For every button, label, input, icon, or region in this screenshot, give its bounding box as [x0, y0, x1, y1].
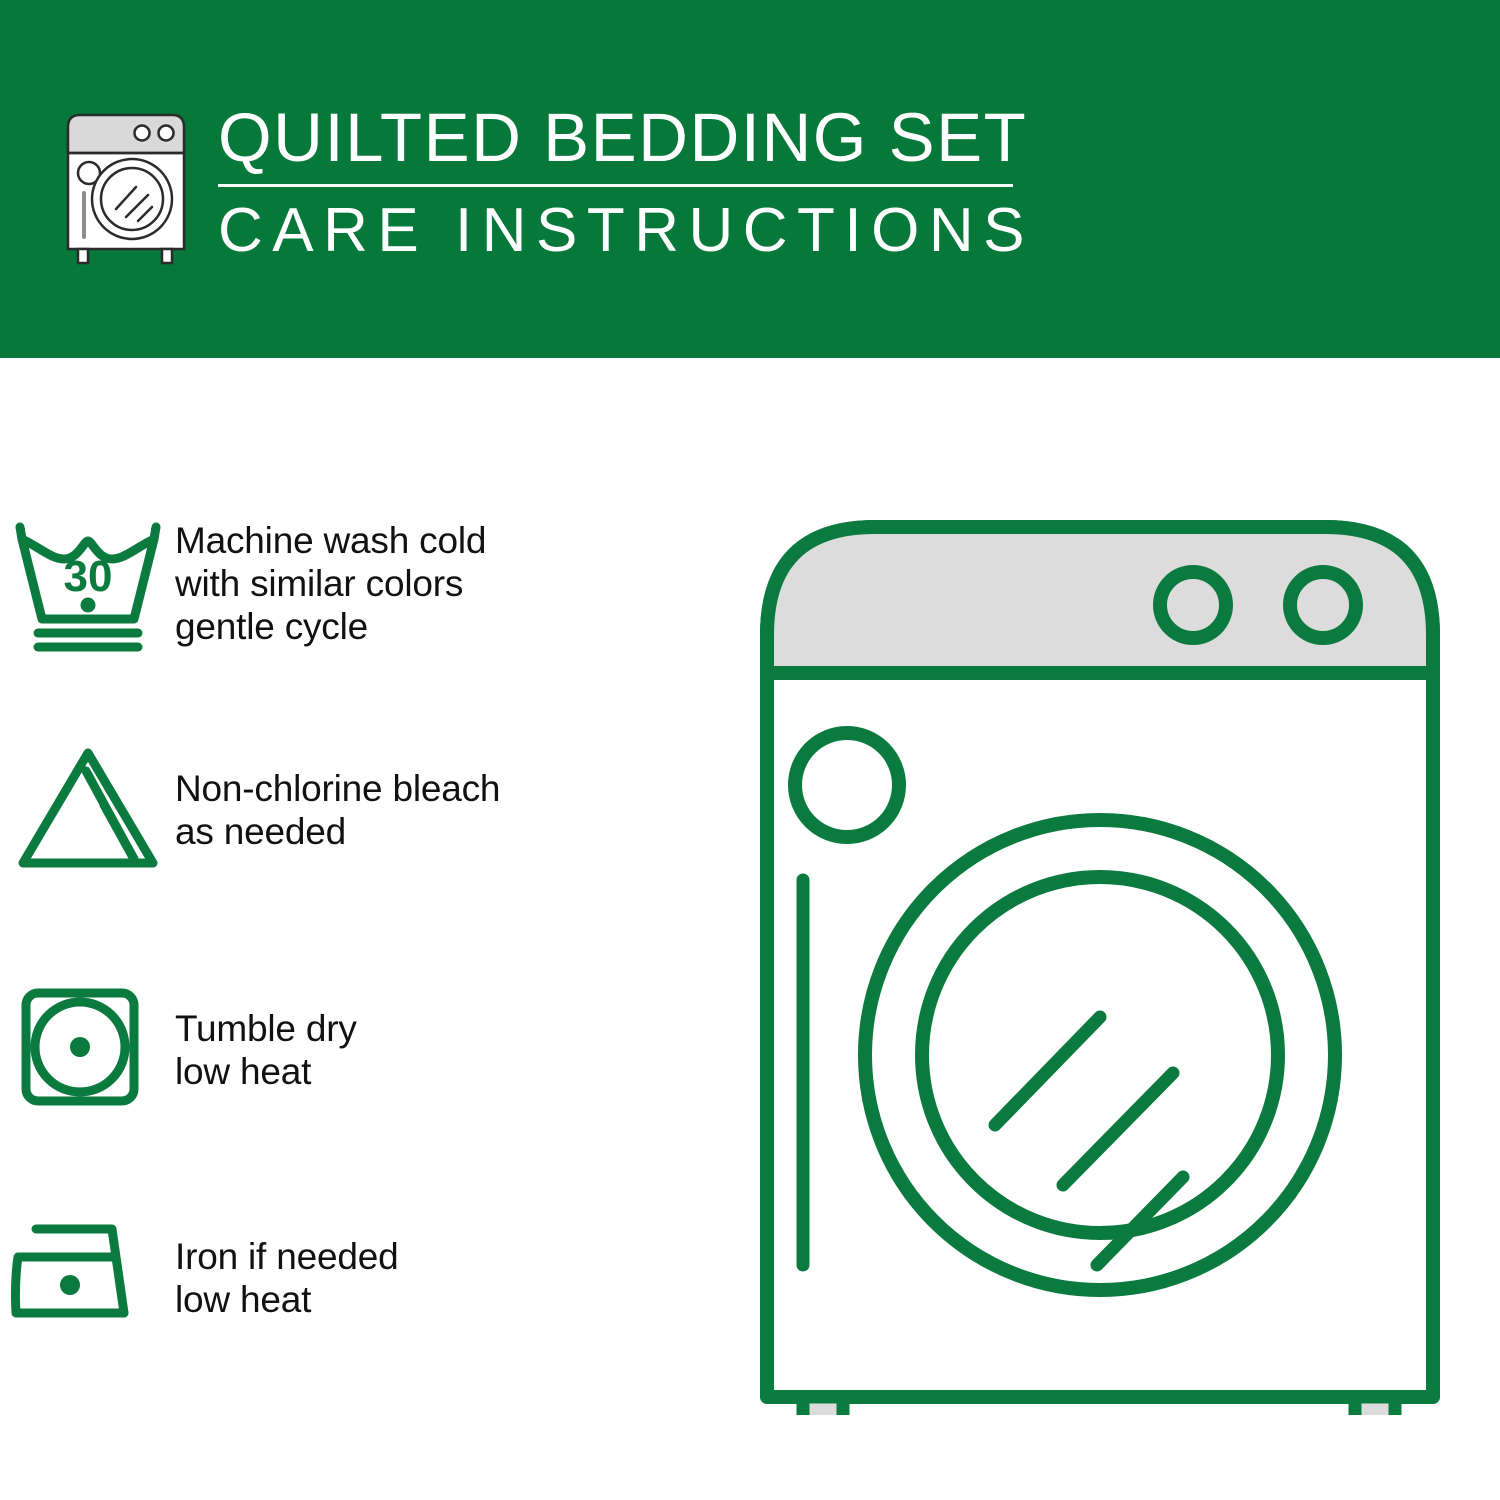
title-divider: [218, 184, 1013, 187]
bleach-triangle-icon: [0, 727, 175, 887]
header-text-block: QUILTED BEDDING SET CARE INSTRUCTIONS: [218, 100, 1018, 265]
care-text-line: with similar colors: [175, 562, 486, 605]
care-item-text: Non-chlorine bleach as needed: [175, 727, 500, 853]
tumble-dry-icon: [0, 967, 175, 1127]
care-item-text: Tumble dry low heat: [175, 967, 357, 1093]
care-text-line: Non-chlorine bleach: [175, 767, 500, 810]
care-text-line: low heat: [175, 1278, 398, 1321]
care-item-text: Machine wash cold with similar colors ge…: [175, 505, 486, 648]
care-text-line: Machine wash cold: [175, 519, 486, 562]
care-text-line: Iron if needed: [175, 1235, 398, 1278]
leg-right: [1355, 1397, 1395, 1415]
care-instructions-page: QUILTED BEDDING SET CARE INSTRUCTIONS: [0, 0, 1500, 1500]
detergent-dispenser-circle: [795, 733, 899, 837]
care-item-text: Iron if needed low heat: [175, 1195, 398, 1321]
care-text-line: Tumble dry: [175, 1007, 357, 1050]
wash-temperature-label: 30: [63, 552, 112, 601]
care-text-line: low heat: [175, 1050, 357, 1093]
care-item-machine-wash: 30 Machine wash cold with similar colors…: [0, 505, 730, 665]
page-title: QUILTED BEDDING SET: [218, 100, 1018, 176]
knob-right: [1290, 572, 1356, 638]
iron-icon: [0, 1195, 175, 1355]
wash-tub-30-icon: 30: [0, 505, 175, 665]
care-item-iron: Iron if needed low heat: [0, 1195, 730, 1355]
door-inner-ring: [922, 877, 1278, 1233]
page-subtitle: CARE INSTRUCTIONS: [218, 197, 1018, 265]
washing-machine-icon: [62, 105, 190, 265]
knob-left: [1160, 572, 1226, 638]
care-item-tumble-dry: Tumble dry low heat: [0, 967, 730, 1127]
care-item-bleach: Non-chlorine bleach as needed: [0, 727, 730, 887]
care-text-line: gentle cycle: [175, 605, 486, 648]
header-banner: QUILTED BEDDING SET CARE INSTRUCTIONS: [0, 0, 1500, 358]
care-text-line: as needed: [175, 810, 500, 853]
washing-machine-illustration: [745, 495, 1455, 1415]
leg-left: [803, 1397, 843, 1415]
